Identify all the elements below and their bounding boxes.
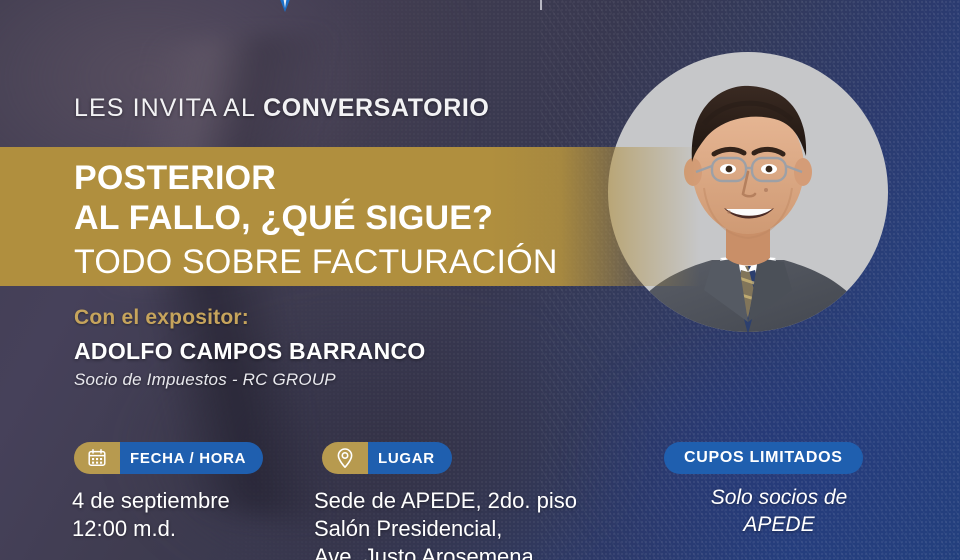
availability-badge: CUPOS LIMITADOS bbox=[664, 442, 863, 474]
title-line-2: AL FALLO, ¿QUÉ SIGUE? bbox=[74, 198, 558, 238]
title-line-3: TODO SOBRE FACTURACIÓN bbox=[74, 240, 558, 284]
availability-note-line-1: Solo socios de bbox=[664, 484, 894, 511]
place-badge-label: LUGAR bbox=[368, 442, 452, 474]
date-line-2: 12:00 m.d. bbox=[72, 515, 230, 543]
place-line-3: Ave. Justo Arosemena bbox=[314, 543, 577, 560]
event-poster: LES INVITA AL CONVERSATORIO POSTERIOR AL… bbox=[0, 0, 960, 560]
speaker-label: Con el expositor: bbox=[74, 306, 426, 330]
kicker-emphasis: CONVERSATORIO bbox=[263, 94, 489, 122]
date-line-1: 4 de septiembre bbox=[72, 487, 230, 515]
speaker-role: Socio de Impuestos - RC GROUP bbox=[74, 370, 426, 390]
page-title: POSTERIOR AL FALLO, ¿QUÉ SIGUE? TODO SOB… bbox=[74, 158, 558, 284]
availability-note-line-2: APEDE bbox=[664, 511, 894, 538]
place-line-2: Salón Presidencial, bbox=[314, 515, 577, 543]
date-details: 4 de septiembre 12:00 m.d. bbox=[72, 487, 230, 543]
calendar-icon bbox=[74, 442, 120, 474]
logo-chevron-inner-icon bbox=[281, 0, 289, 8]
title-line-1: POSTERIOR bbox=[74, 158, 558, 198]
speaker-block: Con el expositor: ADOLFO CAMPOS BARRANCO… bbox=[74, 306, 426, 390]
place-line-1: Sede de APEDE, 2do. piso bbox=[314, 487, 577, 515]
kicker-prefix: LES INVITA AL bbox=[74, 94, 263, 122]
speaker-name: ADOLFO CAMPOS BARRANCO bbox=[74, 338, 426, 365]
date-badge: FECHA / HORA bbox=[74, 442, 263, 474]
place-badge: LUGAR bbox=[322, 442, 452, 474]
logo-divider bbox=[540, 0, 542, 10]
location-pin-icon bbox=[322, 442, 368, 474]
place-details: Sede de APEDE, 2do. piso Salón Presidenc… bbox=[314, 487, 577, 560]
date-badge-label: FECHA / HORA bbox=[120, 442, 263, 474]
availability-note: Solo socios de APEDE bbox=[664, 484, 894, 538]
invitation-kicker: LES INVITA AL CONVERSATORIO bbox=[74, 94, 489, 123]
